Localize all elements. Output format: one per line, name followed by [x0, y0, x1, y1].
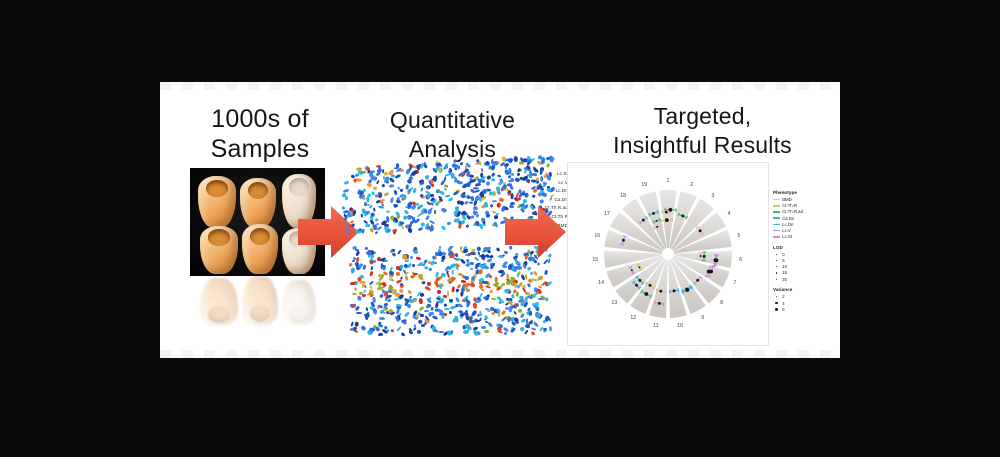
particle [379, 317, 385, 320]
chromosome-label: 4 [728, 211, 731, 217]
legend-lod-dot [776, 254, 777, 255]
legend-variance-marker [773, 296, 780, 297]
legend-lod-marker [773, 260, 780, 261]
bone-specimen [200, 226, 238, 274]
particle [381, 199, 385, 202]
legend-lod-marker [773, 279, 780, 280]
figure-canvas: 1000s of Samples Quant [0, 0, 1000, 457]
particle [403, 209, 408, 214]
qtl-error-bar-cap [655, 301, 656, 305]
particle [341, 205, 345, 209]
legend-lod-label: 20 [782, 277, 787, 282]
legend-variance-title: Variance [773, 287, 835, 292]
legend-phenotype-label: BMD [782, 197, 792, 202]
particle [538, 298, 545, 301]
particle [373, 207, 376, 212]
particle [350, 328, 354, 331]
legend-lod-dot [776, 279, 777, 280]
bone-specimen-reflection-item [200, 278, 238, 326]
particle [540, 176, 543, 182]
qtl-error-bar-cap [669, 290, 670, 294]
particle [504, 302, 509, 306]
particle [402, 215, 407, 220]
chromosome-label: 15 [592, 257, 598, 263]
qtl-point [638, 266, 640, 268]
particle [542, 319, 547, 324]
particle [544, 270, 548, 275]
particle [424, 286, 431, 292]
particle [414, 324, 417, 328]
bone-specimen [198, 176, 236, 228]
plot-legend: Phenotype BMDCt.Th.RCt.Th.R.adCa.DnLc.Dn… [773, 190, 835, 312]
bone-specimen-reflection [190, 276, 325, 338]
qtl-point [622, 239, 625, 242]
particle [412, 187, 416, 193]
particle [377, 205, 383, 209]
particle [363, 265, 367, 270]
particle [388, 184, 393, 188]
particle [484, 330, 489, 333]
qtl-point [685, 288, 689, 292]
particle [365, 223, 371, 226]
particle [376, 180, 380, 184]
particle [492, 200, 497, 202]
particle [432, 315, 439, 321]
particle [478, 161, 481, 165]
legend-variance-dot [775, 308, 778, 311]
particle [348, 211, 351, 217]
chromosome-label: 3 [711, 193, 714, 199]
particle [457, 181, 463, 184]
particle [456, 210, 461, 216]
particle [345, 196, 349, 200]
particle [519, 162, 524, 165]
legend-color-swatch [773, 211, 780, 213]
particle [458, 223, 461, 229]
qtl-point [631, 269, 633, 271]
legend-lod-marker [773, 254, 780, 255]
particle [539, 199, 544, 204]
particle [420, 314, 424, 318]
bone-lumen [208, 306, 229, 322]
particle [466, 259, 470, 262]
legend-phenotype-label: Lc.St [782, 234, 792, 239]
particle [522, 284, 527, 288]
particle [494, 215, 499, 220]
particle [379, 294, 384, 299]
bone-lumen [250, 228, 270, 245]
particle [407, 289, 412, 294]
qtl-point [665, 218, 669, 222]
legend-variance-dot [776, 296, 777, 297]
legend-lod-dot [776, 260, 777, 261]
particle [496, 330, 502, 334]
qtl-point [639, 279, 642, 282]
particle [363, 289, 366, 293]
particle [449, 311, 453, 315]
bone-specimen-reflection-item [242, 276, 278, 326]
particle [530, 331, 535, 336]
legend-phenotype-label: Ct.Th.R [782, 203, 797, 208]
chromosome-label: 2 [690, 182, 693, 188]
particle [515, 197, 522, 202]
particle [470, 179, 476, 183]
particle [466, 224, 470, 228]
particle [427, 281, 432, 286]
particle [462, 329, 468, 334]
particle [367, 182, 373, 187]
particle [410, 256, 414, 260]
particle [448, 196, 454, 201]
particle [351, 222, 355, 227]
legend-lod-title: LOD [773, 245, 835, 250]
particle [372, 186, 378, 191]
particle [452, 269, 454, 275]
particle [503, 326, 509, 332]
particle [396, 272, 401, 276]
particle [353, 287, 356, 291]
particle [497, 255, 503, 258]
particle [365, 307, 368, 311]
particle [344, 181, 349, 185]
particle [450, 306, 456, 310]
particle [414, 250, 418, 254]
particle [451, 286, 454, 292]
particle [389, 177, 395, 183]
particle [474, 257, 479, 262]
particle [419, 204, 423, 208]
particle [436, 200, 441, 205]
qtl-point [669, 208, 673, 212]
particle [480, 317, 483, 321]
particle [484, 202, 490, 209]
legend-color-swatch [773, 230, 780, 232]
particle [364, 247, 368, 250]
particle [390, 197, 394, 204]
particle [356, 256, 360, 262]
qtl-point [659, 290, 662, 293]
particle [356, 178, 362, 181]
particle [465, 323, 470, 327]
particle [421, 180, 425, 184]
particle [382, 267, 386, 272]
legend-lod-marker [773, 272, 780, 273]
legend-color-swatch [773, 199, 780, 201]
qtl-point [635, 284, 638, 287]
particle [381, 183, 386, 188]
particle [433, 210, 435, 214]
legend-variance-row[interactable]: 6 [773, 306, 835, 312]
particle [356, 312, 362, 315]
particle [441, 255, 446, 261]
particle [418, 320, 422, 324]
particle [369, 271, 374, 277]
particle [434, 281, 439, 288]
qtl-point [681, 215, 684, 218]
qtl-plot-frame: 12345678910111213141516171819 [567, 162, 769, 346]
particle [399, 288, 404, 293]
particle [501, 309, 507, 315]
particle [349, 262, 354, 267]
legend-lod-dot [776, 266, 777, 267]
particle [436, 289, 441, 294]
particle [374, 230, 378, 234]
qtl-point [699, 229, 702, 232]
particle [532, 195, 535, 199]
particle [488, 289, 493, 294]
results-headline-line1: Targeted, [565, 102, 840, 131]
bone-lumen [248, 182, 268, 199]
legend-color-swatch [773, 236, 780, 238]
particle [469, 201, 473, 203]
particle [418, 227, 423, 232]
particle [401, 331, 406, 336]
particle [488, 166, 491, 170]
particle [384, 176, 389, 181]
particle [494, 221, 499, 228]
particle [546, 163, 551, 168]
particle [418, 298, 423, 304]
analysis-headline-line1: Quantitative [335, 106, 570, 135]
particle [533, 271, 538, 277]
particle [405, 275, 409, 281]
particle [493, 191, 496, 196]
legend-variance-items: 246 [773, 294, 835, 313]
particle [424, 310, 429, 313]
particle [435, 302, 439, 308]
particle [442, 165, 448, 170]
legend-variance-label: 4 [782, 301, 784, 306]
particle [444, 188, 448, 192]
particle [513, 156, 518, 162]
particle [422, 281, 426, 285]
particle [376, 200, 381, 205]
particle [418, 274, 423, 277]
particle [350, 282, 356, 286]
qtl-point [696, 279, 699, 282]
legend-variance-marker [773, 308, 780, 311]
legend-lod-dot [776, 272, 777, 273]
qtl-point [703, 255, 706, 258]
particle [502, 265, 508, 269]
bone-lumen [250, 306, 270, 323]
particle [404, 312, 410, 318]
particle [489, 204, 493, 208]
chromosome-label: 10 [677, 323, 683, 329]
particle [394, 203, 399, 207]
particle [397, 249, 402, 255]
chromosome-label: 13 [611, 300, 617, 306]
particle [439, 331, 444, 333]
qtl-point [673, 289, 676, 292]
samples-headline: 1000s of Samples [160, 104, 360, 164]
particle [470, 268, 474, 271]
legend-lod-items: 05101520 [773, 251, 835, 282]
legend-phenotype-label: Ct.Th.R.ad [782, 209, 803, 214]
legend-variance-label: 2 [782, 294, 784, 299]
particle [510, 194, 513, 200]
legend-variance-marker [773, 302, 780, 304]
particle [422, 258, 428, 264]
samples-headline-line2: Samples [160, 134, 360, 164]
particle [393, 190, 398, 196]
qtl-error-bar-cap [665, 290, 666, 294]
legend-lod-marker [773, 266, 780, 267]
particle [344, 227, 350, 233]
particle [460, 162, 464, 166]
legend-phenotype-label: Lc.Dn [782, 222, 793, 227]
legend-lod-label: 15 [782, 270, 787, 275]
particle [457, 303, 463, 308]
particle [491, 172, 496, 177]
particle [386, 210, 390, 213]
bone-specimen-reflection-item [282, 280, 316, 326]
particle [517, 266, 522, 269]
particle [416, 256, 422, 260]
chromosome-label: 12 [630, 315, 636, 321]
particle [424, 215, 429, 221]
particle [444, 308, 450, 310]
qtl-point [715, 259, 719, 263]
particle [455, 297, 460, 303]
particle [489, 274, 493, 278]
qtl-error-bar-cap [663, 302, 664, 306]
particle [529, 170, 533, 176]
legend-variance-label: 6 [782, 307, 784, 312]
qtl-point [658, 302, 661, 305]
particle [396, 214, 401, 219]
particle [491, 297, 496, 300]
qtl-error-bar-cap [678, 288, 679, 292]
particle [375, 217, 379, 221]
particle [498, 197, 504, 203]
qtl-point [656, 226, 658, 228]
particle [405, 271, 410, 275]
particle [439, 298, 445, 304]
particle [449, 298, 453, 301]
legend-variance-dot [775, 302, 777, 304]
particle [464, 200, 469, 205]
bone-lumen [206, 180, 227, 198]
bone-lumen [289, 178, 308, 196]
chromosome-label: 8 [720, 300, 723, 306]
particle [366, 251, 372, 255]
legend-color-swatch [773, 217, 780, 219]
qtl-radial-wheel: 12345678910111213141516171819 [593, 179, 743, 329]
bone-lumen [289, 307, 308, 323]
chromosome-label: 17 [604, 211, 610, 217]
particle [481, 326, 486, 329]
samples-headline-line1: 1000s of [160, 104, 360, 134]
legend-phenotype-items: BMDCt.Th.RCt.Th.R.adCa.DnLc.DnLc.VLc.St [773, 197, 835, 240]
particle [445, 173, 451, 176]
particle [496, 247, 501, 252]
qtl-error-bar-cap [656, 289, 657, 293]
particle [420, 187, 423, 191]
chromosome-label: 6 [739, 257, 742, 263]
particle [429, 267, 433, 271]
particle [447, 221, 451, 225]
particle [403, 320, 406, 324]
particle [443, 176, 447, 182]
particle [504, 332, 507, 335]
particle [370, 212, 374, 216]
particle [536, 177, 539, 181]
particle [491, 178, 496, 182]
particle [416, 329, 421, 334]
chromosome-label: 16 [594, 233, 600, 239]
results-headline-line2: Insightful Results [565, 131, 840, 160]
particle [473, 302, 478, 309]
particle [372, 297, 376, 303]
qtl-point [652, 212, 655, 215]
particle [533, 321, 539, 327]
particle [378, 333, 383, 337]
particle [466, 288, 470, 292]
particle [455, 218, 459, 222]
legend-lod-label: 10 [782, 264, 787, 269]
particle [494, 161, 498, 165]
particle [441, 208, 448, 214]
bone-lumen [208, 229, 229, 245]
results-headline: Targeted, Insightful Results [565, 102, 840, 160]
particle [439, 190, 446, 195]
particle [515, 177, 521, 182]
legend-phenotype-title: Phenotype [773, 190, 835, 195]
particle [391, 329, 395, 332]
particle [387, 298, 392, 303]
particle [444, 303, 448, 307]
particle [354, 320, 359, 326]
particle [356, 230, 362, 235]
particle [550, 157, 554, 163]
particle [362, 228, 365, 233]
chromosome-label: 1 [667, 178, 670, 184]
particle [461, 194, 467, 199]
particle [483, 265, 489, 270]
particle [527, 266, 532, 271]
particle [504, 289, 509, 293]
qtl-point [649, 284, 652, 287]
legend-phenotype-label: Ca.Dn [782, 216, 794, 221]
bone-specimen [240, 178, 276, 228]
qtl-point [656, 220, 658, 222]
legend-phenotype-label: Lc.V [782, 228, 791, 233]
chromosome-label: 7 [733, 280, 736, 286]
qtl-point [700, 255, 702, 257]
particle [412, 263, 416, 266]
particle [384, 192, 390, 197]
panel-results: Targeted, Insightful Results 12345678910… [565, 82, 840, 358]
legend-lod-label: 0 [782, 252, 784, 257]
particle [543, 328, 547, 330]
particle [476, 247, 481, 252]
legend-color-swatch [773, 205, 780, 207]
qtl-point [709, 270, 713, 274]
particle [529, 311, 532, 316]
legend-lod-label: 5 [782, 258, 784, 263]
particle [352, 292, 357, 295]
particle [548, 326, 552, 331]
particle [492, 161, 495, 166]
particle [452, 190, 459, 196]
legend-color-swatch [773, 224, 780, 226]
qtl-point [644, 292, 648, 296]
particle [417, 212, 423, 218]
particle [360, 325, 366, 331]
particle [524, 329, 529, 335]
particle [457, 166, 460, 170]
